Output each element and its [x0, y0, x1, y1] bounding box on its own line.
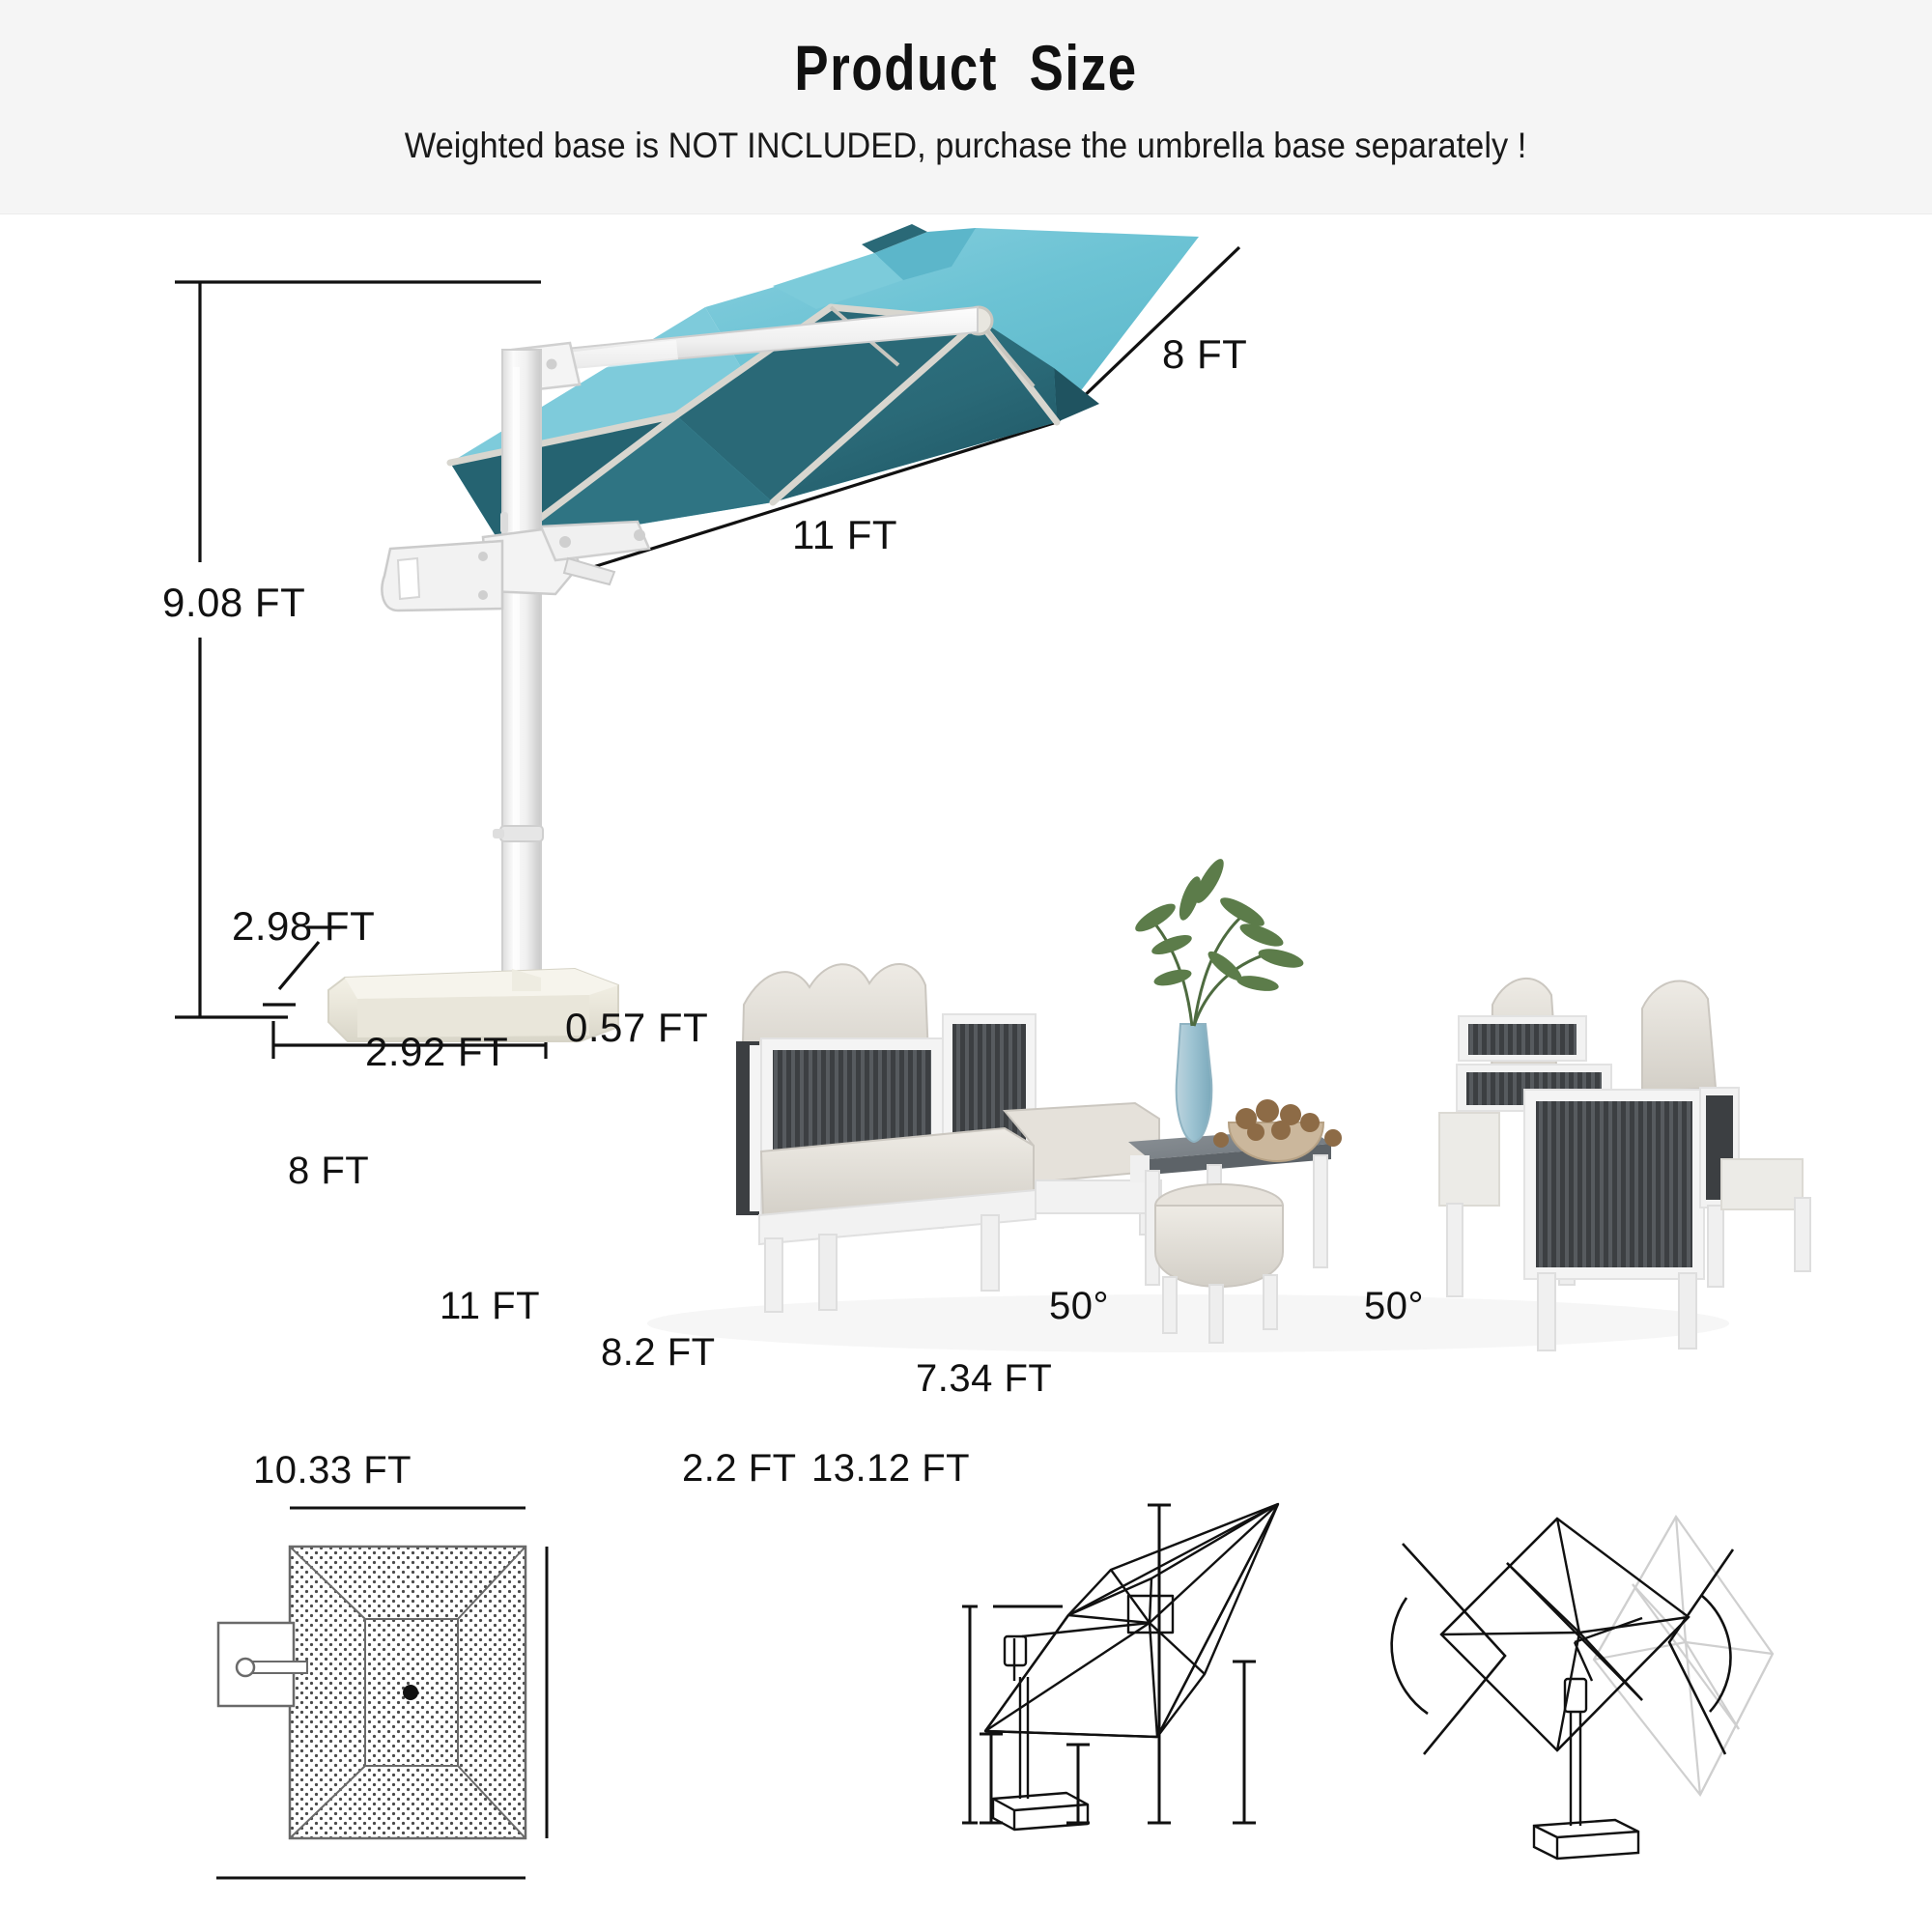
canopy-under-right [773, 319, 1057, 502]
dim-label-topview-diagonal: 10.33 FT [253, 1449, 412, 1492]
armchair-a-rope-panel [1536, 1101, 1692, 1267]
sofa-left-arm-dark [736, 1041, 759, 1215]
ottoman-leg-3 [1264, 1275, 1277, 1329]
arm-highlight [541, 340, 678, 375]
furniture-scene [647, 855, 1810, 1352]
mast-collar-knob [493, 829, 504, 838]
tilt-joint-bolt-a [559, 536, 571, 548]
tilt-right-angle [1669, 1549, 1733, 1754]
dim-label-tilt-right: 50° [1364, 1285, 1424, 1328]
tilt-main-canopy [1441, 1519, 1689, 1750]
dim-label-topview-depth: 11 FT [440, 1285, 540, 1328]
armchair-a-leg-3 [1708, 1206, 1723, 1287]
canopy-crown-fold-2 [773, 253, 903, 309]
crank-handle-grip [398, 558, 419, 599]
ottoman-leg-1 [1163, 1277, 1177, 1333]
tilt-mast-and-base [1534, 1618, 1642, 1859]
sofa-rope-frame-b [943, 1014, 1036, 1186]
sofa-leg-4 [1140, 1165, 1155, 1235]
side-table-leg-2 [1207, 1165, 1221, 1285]
tilt-angle-diagram [1392, 1517, 1773, 1859]
hero-umbrella [328, 224, 1199, 1041]
top-view-canopy [290, 1547, 526, 1838]
mast-highlight [513, 367, 520, 985]
armchair-a-side-frame [1700, 1088, 1739, 1207]
sofa-rope-panel-b [952, 1024, 1026, 1177]
sofa-left-arm-frame [750, 1045, 763, 1211]
crank-bolt-b [478, 590, 488, 600]
dim-label-canopy-width: 11 FT [792, 512, 897, 558]
mast-collar [500, 826, 543, 841]
dim-label-total-span: 13.12 FT [811, 1447, 970, 1491]
nut-bowl [1229, 1122, 1323, 1161]
dim-label-base-width: 2.92 FT [365, 1029, 508, 1075]
sofa-chaise-rail [1036, 1180, 1161, 1213]
armchair-a-side-dark [1706, 1095, 1733, 1200]
dim-label-height: 9.08 FT [162, 580, 305, 626]
plant-stems [1151, 916, 1275, 1026]
armchair-a-leg-1 [1538, 1273, 1555, 1350]
side-table-frame-left [1130, 1155, 1150, 1182]
canopy-under-far-left [450, 415, 676, 547]
armchair-b-seat [1439, 1113, 1499, 1206]
canopy-ribs [450, 307, 1057, 547]
plant-leaves [1131, 855, 1305, 993]
dim-label-tilt-left: 50° [1049, 1285, 1109, 1328]
side-wireframe-diagram [962, 1504, 1278, 1830]
mast-button [500, 512, 508, 533]
sofa-leg-1 [765, 1238, 782, 1312]
base-socket [512, 969, 541, 991]
dim-label-base-offset-2: 2.2 FT [682, 1447, 797, 1491]
armchair-b-back-cushion [1492, 979, 1557, 1082]
umbrella-mast [502, 350, 541, 995]
ottoman-leg-2 [1209, 1285, 1223, 1343]
ottoman-top [1155, 1184, 1283, 1227]
sofa-seat-cushion [761, 1128, 1034, 1219]
upper-joint-bolt [547, 359, 557, 370]
dim-label-pole-height: 8.2 FT [601, 1331, 716, 1375]
dim-label-base-offset: 2.98 FT [232, 903, 375, 950]
armchair-b-leg-2 [1559, 1196, 1575, 1285]
armchair-b-frame-mid [1457, 1065, 1611, 1111]
armchair-b-rope-top [1468, 1024, 1577, 1055]
armchair-a-leg-4 [1795, 1198, 1810, 1271]
armchair-b-leg-1 [1447, 1204, 1463, 1296]
illustration-layer [0, 0, 1932, 1932]
canopy-top-left-panel [450, 307, 756, 463]
crank-handle [382, 541, 502, 611]
ottoman-body [1155, 1206, 1283, 1287]
tilt-left-angle [1392, 1544, 1505, 1754]
armchair-a-frame [1524, 1090, 1704, 1279]
canopy-crown-fold [874, 228, 976, 280]
side-table-leg-1 [1146, 1171, 1159, 1285]
side-table-edge [1150, 1144, 1331, 1175]
canopy-hub [965, 307, 992, 334]
canopy-top-front-panel [450, 393, 1057, 547]
floor-shadow [647, 1294, 1729, 1352]
tilt-joint-housing [483, 526, 580, 594]
dim-label-canopy-edge-height: 7.34 FT [916, 1357, 1052, 1401]
canopy-under-tip [1054, 368, 1099, 422]
top-view-ribs [290, 1547, 526, 1838]
sofa-back-cushions [742, 964, 929, 1082]
base-top-face [345, 969, 618, 999]
canopy-crown-shadow [862, 224, 927, 253]
armchair-b-frame-top [1459, 1016, 1586, 1061]
page-header: Product Size Weighted base is NOT INCLUD… [0, 0, 1932, 214]
tilt-arm-link [541, 522, 649, 560]
side-table-leg-3 [1314, 1155, 1327, 1267]
armchair-a-leg-2 [1679, 1273, 1696, 1349]
dim-label-base-thickness: 0.57 FT [565, 1005, 708, 1051]
sofa-frame-rail [759, 1190, 1036, 1244]
umbrella-support-arm [529, 307, 978, 372]
nuts [1213, 1099, 1342, 1148]
top-view-arm [243, 1662, 307, 1673]
sofa-leg-2 [819, 1235, 837, 1310]
side-table-top [1128, 1128, 1331, 1159]
sofa-chaise-cushion [1005, 1103, 1159, 1182]
dim-label-canopy-depth: 8 FT [1162, 331, 1247, 378]
page-title: Product Size [794, 31, 1137, 104]
dim-label-topview-width: 8 FT [288, 1150, 369, 1193]
tilt-joint-bolt-b [634, 529, 645, 541]
top-view-pole [237, 1659, 254, 1676]
sofa-rope-frame-a [761, 1038, 943, 1228]
upper-joint-block [504, 343, 580, 392]
canopy-under-mid [676, 307, 979, 502]
sofa-leg-3 [981, 1215, 999, 1291]
page-subtitle: Weighted base is NOT INCLUDED, purchase … [405, 126, 1527, 166]
sofa-rope-panel-a [773, 1050, 931, 1216]
top-view-center-hub [403, 1685, 418, 1700]
plant-vase [1177, 1024, 1212, 1142]
canopy-top-panel [705, 228, 1199, 422]
armchair-b-rope-mid [1466, 1072, 1602, 1105]
canopy-under-left [502, 415, 773, 547]
top-view-dim-lines [216, 1508, 547, 1878]
top-view-diagram [216, 1508, 547, 1878]
top-view-base [218, 1623, 294, 1706]
armchair-a-seat-cushion [1721, 1159, 1803, 1209]
armchair-a-back-cushion [1642, 980, 1716, 1092]
tilt-lever [564, 558, 614, 584]
canopy-rib-struts [831, 307, 1034, 386]
tilt-ghost-canopy [1594, 1517, 1773, 1795]
crank-bolt-a [478, 552, 488, 561]
